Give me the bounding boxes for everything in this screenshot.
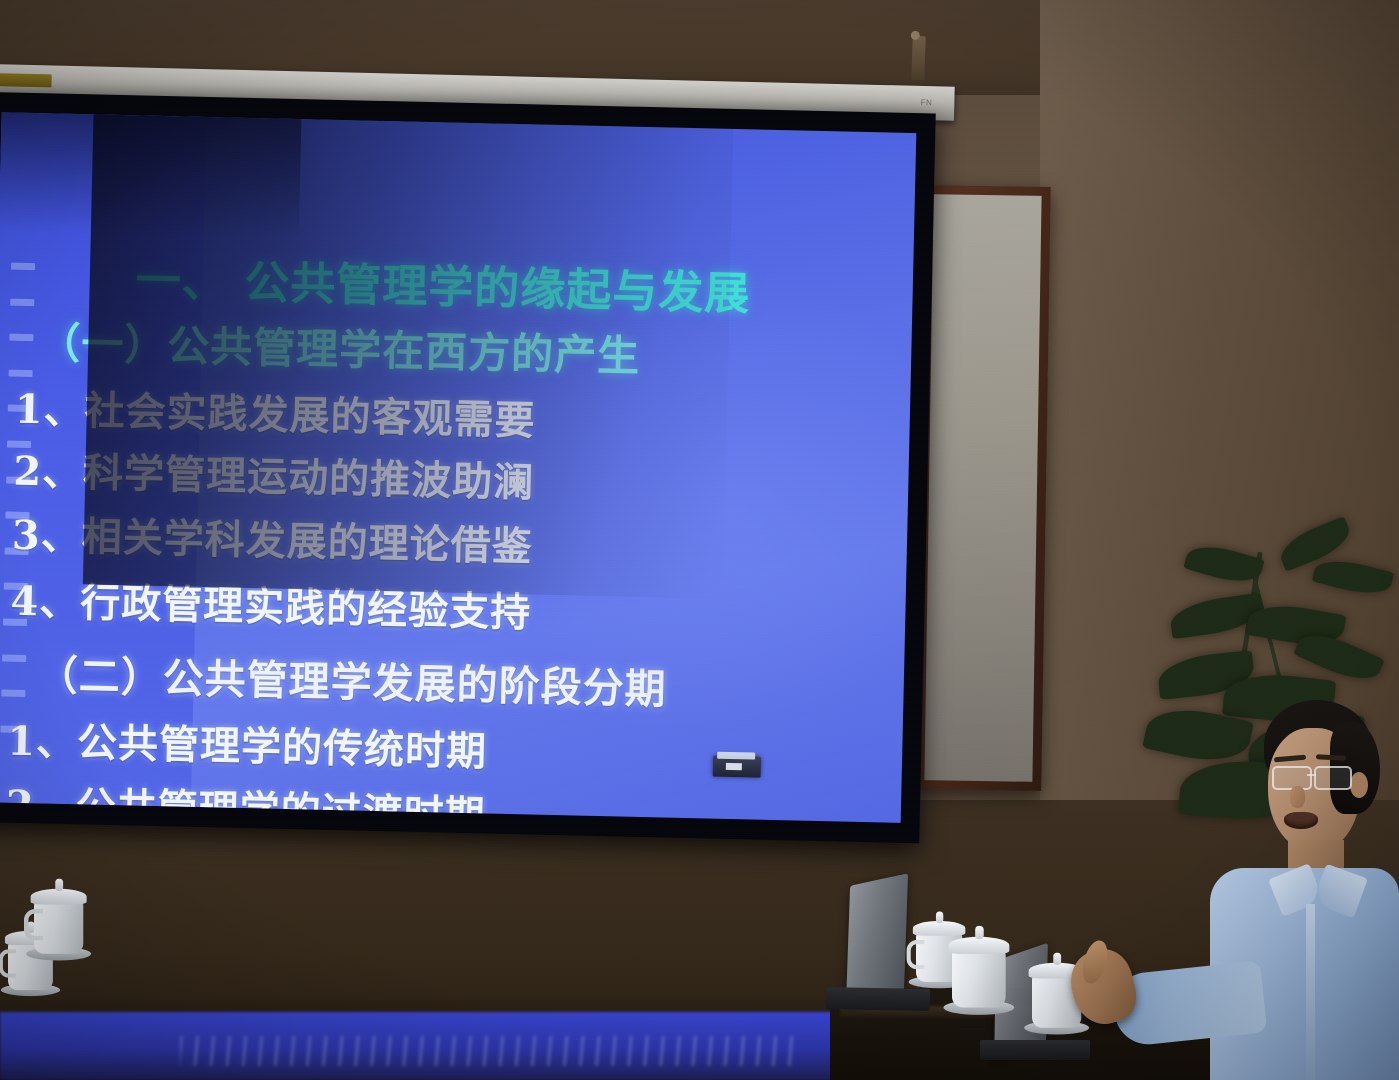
speaker-ear: [1350, 772, 1368, 798]
framed-wall-panel-surface: [924, 194, 1041, 782]
speaker-mouth: [1284, 812, 1318, 829]
slide-bullet: 1、公共管理学的传统时期: [7, 709, 488, 778]
slide-bullet: 1、社会实践发展的客观需要: [14, 377, 536, 447]
screen-mount-bracket: [911, 36, 926, 80]
teacup-lid: [31, 889, 87, 905]
plant-leaf: [1312, 554, 1394, 600]
table-projection-reflection: [0, 1012, 860, 1080]
slide-title: 一、 公共管理学的缘起与发展: [135, 243, 751, 322]
slide-text-block: 一、 公共管理学的缘起与发展 （一）公共管理学在西方的产生 1、社会实践发展的客…: [0, 112, 916, 823]
teacup-knob: [1053, 953, 1061, 965]
teacup-body: [952, 949, 1006, 1008]
slide-bullet: 2、公共管理学的过渡时期: [5, 773, 486, 823]
teacup-knob: [55, 879, 63, 891]
teacup-lid: [913, 921, 966, 936]
framed-wall-panel: [915, 185, 1050, 791]
valance-label: FN: [921, 98, 933, 107]
teacup-handle: [907, 940, 925, 969]
teacup-knob: [936, 912, 943, 924]
speaker-nose: [1290, 786, 1305, 808]
slide-bullet: 3、相关学科发展的理论借鉴: [11, 503, 533, 573]
slide-overlay-popup: [713, 756, 761, 778]
eyeglasses-bridge: [1307, 774, 1316, 776]
teacup-handle: [24, 909, 43, 940]
teacup-handle: [0, 949, 16, 978]
laptop-left-base: [826, 987, 930, 1011]
speaker-shirt-placket: [1306, 904, 1315, 1080]
teacup-lid: [948, 937, 1009, 954]
presentation-slide: 一、 公共管理学的缘起与发展 （一）公共管理学在西方的产生 1、社会实践发展的客…: [0, 112, 916, 823]
teacup-knob: [975, 926, 984, 939]
valance-tab: [0, 73, 52, 87]
slide-bullet: 4、行政管理实践的经验支持: [10, 569, 532, 639]
eyeglasses-lens-right: [1314, 766, 1352, 790]
slide-bullet: 2、科学管理运动的推波助澜: [13, 439, 535, 509]
laptop-right-base: [980, 1040, 1090, 1060]
slide-section-two-heading: （二）公共管理学发展的阶段分期: [36, 641, 667, 715]
screenshot-root: FN 一、 公共管理学的缘起与发展: [0, 0, 1399, 1080]
slide-section-one-heading: （一）公共管理学在西方的产生: [38, 309, 641, 384]
projector-screen: 一、 公共管理学的缘起与发展 （一）公共管理学在西方的产生 1、社会实践发展的客…: [0, 92, 936, 843]
speaker: [1202, 700, 1399, 1080]
